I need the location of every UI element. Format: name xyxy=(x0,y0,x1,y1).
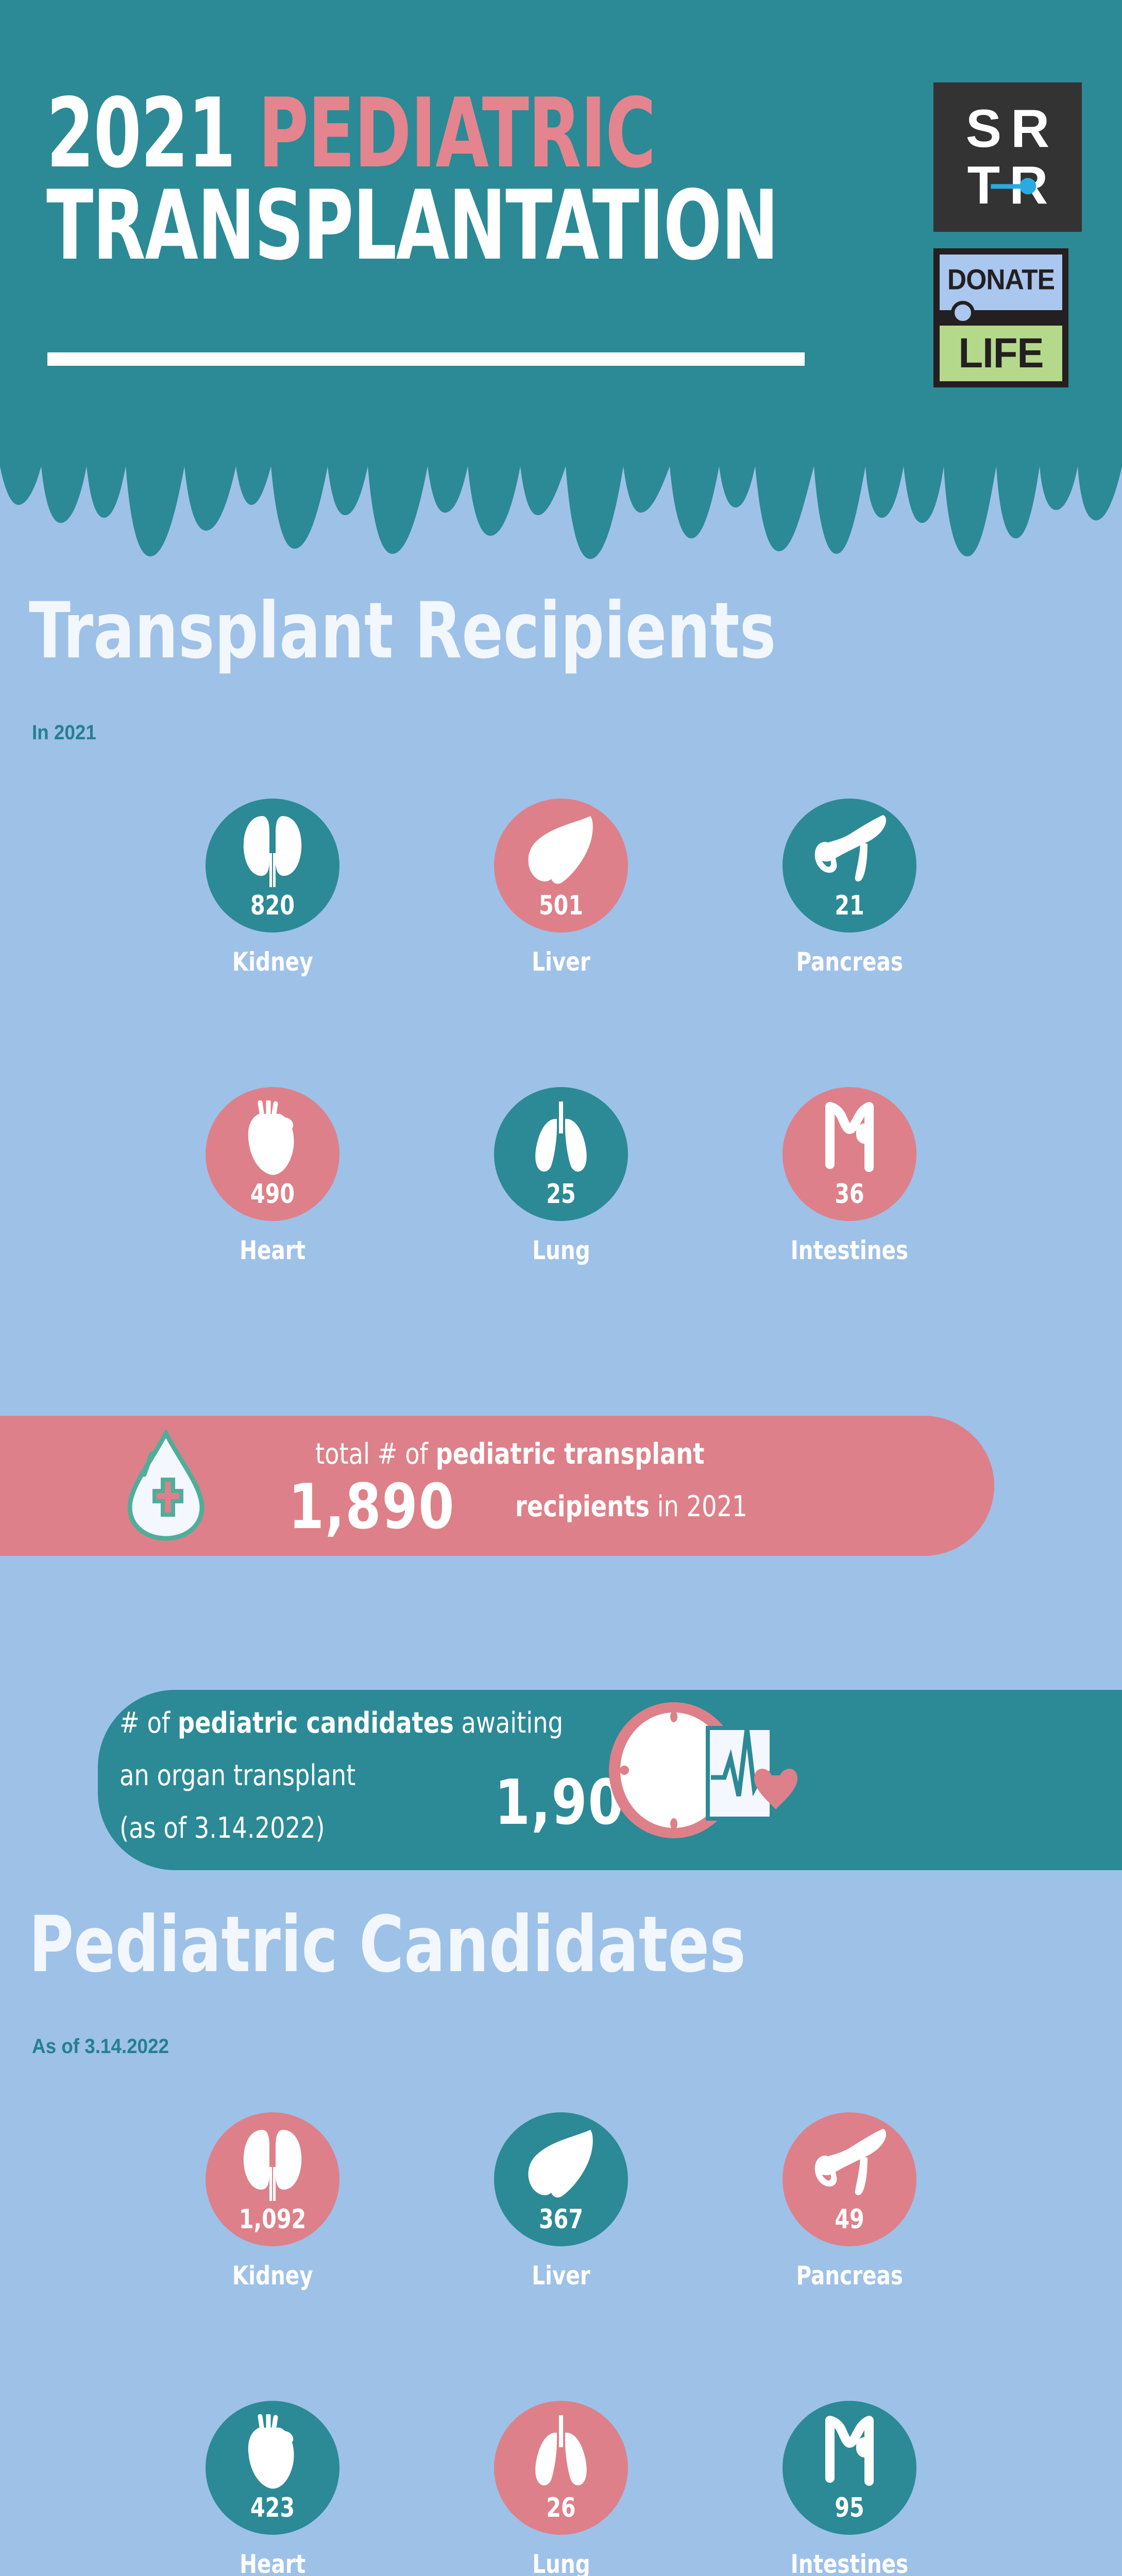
lung-icon xyxy=(525,2414,597,2492)
pancreas-icon xyxy=(811,812,888,884)
organ-circle: 95 xyxy=(783,2401,916,2535)
organ-label: Pancreas xyxy=(796,2261,903,2291)
organ-value: 423 xyxy=(250,2495,295,2521)
organ-label: Liver xyxy=(532,947,590,977)
srtr-logo-row-bottom: T R xyxy=(933,159,1082,212)
organ-value: 26 xyxy=(546,2495,575,2521)
organ-stat-intestines-candidates: 95 Intestines xyxy=(757,2401,942,2576)
organ-circle: 36 xyxy=(783,1087,916,1221)
total-recipients-value: 1,890 xyxy=(288,1477,455,1538)
donate-life-bottom-text: LIFE xyxy=(959,329,1044,378)
header-banner: 2021 PEDIATRIC TRANSPLANTATION S R T R xyxy=(0,0,1122,464)
candidates-section-subheading: As of 3.14.2022 xyxy=(32,2035,169,2058)
liver-icon xyxy=(522,2126,600,2203)
organ-circle: 423 xyxy=(206,2401,339,2535)
organ-label: Kidney xyxy=(232,2261,313,2291)
recipients-organ-row-2: 490 Heart 25 Lung 36 Intestin xyxy=(0,1087,1122,1265)
organ-circle: 820 xyxy=(206,799,339,933)
organ-value: 501 xyxy=(539,892,583,919)
header-title-block: 2021 PEDIATRIC TRANSPLANTATION xyxy=(46,88,871,272)
organ-stat-kidney-candidates: 1,092 Kidney xyxy=(180,2112,365,2291)
donate-life-swirl-icon xyxy=(951,301,975,325)
organ-stat-heart-candidates: 423 Heart xyxy=(180,2401,365,2576)
organ-stat-pancreas-recipients: 21 Pancreas xyxy=(757,799,942,977)
clock-ekg-heart-icon xyxy=(602,1698,808,1842)
awaiting-banner-line-2: an organ transplant xyxy=(120,1755,355,1797)
awaiting-line1-post: awaiting xyxy=(454,1706,563,1740)
lung-icon xyxy=(525,1100,597,1178)
donate-life-band xyxy=(940,310,1062,326)
awaiting-candidates-banner: # of pediatric candidates awaiting an or… xyxy=(98,1690,1122,1870)
organ-value: 1,092 xyxy=(239,2206,306,2233)
total-banner-line1-pre: total # of xyxy=(315,1437,436,1471)
organ-circle: 1,092 xyxy=(206,2112,339,2246)
organ-circle: 26 xyxy=(494,2401,628,2535)
blood-drop-cross-icon xyxy=(120,1429,212,1543)
liver-icon xyxy=(522,812,600,889)
donate-life-logo: DONATE LIFE ® xyxy=(933,248,1068,387)
intestines-icon xyxy=(813,1100,886,1178)
recipients-section-heading: Transplant Recipients xyxy=(29,592,776,670)
awaiting-line1-bold: pediatric candidates xyxy=(178,1706,454,1740)
heart-icon xyxy=(236,2414,309,2492)
organ-label: Liver xyxy=(532,2261,590,2291)
organ-value: 21 xyxy=(835,892,864,919)
organ-stat-lung-candidates: 26 Lung xyxy=(468,2401,654,2576)
organ-value: 49 xyxy=(835,2206,864,2233)
organ-circle: 25 xyxy=(494,1087,628,1221)
candidates-section-heading: Pediatric Candidates xyxy=(29,1906,746,1984)
total-banner-line1-bold: pediatric transplant xyxy=(436,1437,705,1471)
organ-label: Kidney xyxy=(232,947,313,977)
organ-label: Heart xyxy=(240,2549,305,2576)
organ-stat-kidney-recipients: 820 Kidney xyxy=(180,799,365,977)
organ-circle: 21 xyxy=(783,799,916,933)
pancreas-icon xyxy=(811,2126,888,2198)
organ-circle: 49 xyxy=(783,2112,916,2246)
awaiting-banner-line-1: # of pediatric candidates awaiting xyxy=(120,1702,563,1744)
organ-label: Heart xyxy=(240,1235,305,1265)
title-underline-rule xyxy=(47,352,805,366)
organ-stat-intestines-recipients: 36 Intestines xyxy=(757,1087,942,1265)
organ-stat-liver-recipients: 501 Liver xyxy=(468,799,654,977)
organ-value: 25 xyxy=(546,1181,575,1208)
srtr-letter-s: S xyxy=(961,102,1006,156)
organ-value: 95 xyxy=(835,2495,864,2521)
organ-value: 367 xyxy=(539,2206,583,2233)
pin-accent-icon xyxy=(991,177,1040,195)
organ-label: Intestines xyxy=(791,2549,908,2576)
organ-circle: 501 xyxy=(494,799,628,933)
awaiting-line1-pre: # of xyxy=(120,1706,178,1740)
infographic-page: 2021 PEDIATRIC TRANSPLANTATION S R T R xyxy=(0,0,1122,2576)
recipients-organ-row-1: 820 Kidney 501 Liver 21 Pancr xyxy=(0,799,1122,977)
donate-life-top-text: DONATE xyxy=(947,262,1055,296)
organ-stat-heart-recipients: 490 Heart xyxy=(180,1087,365,1265)
organ-circle: 367 xyxy=(494,2112,628,2246)
kidney-icon xyxy=(236,2126,309,2203)
organ-value: 490 xyxy=(250,1181,295,1208)
title-line-1: 2021 PEDIATRIC xyxy=(46,88,706,180)
srtr-logo: S R T R xyxy=(933,82,1082,232)
total-recipients-banner: total # of pediatric transplant recipien… xyxy=(0,1416,994,1556)
intestines-icon xyxy=(813,2414,886,2492)
organ-circle: 490 xyxy=(206,1087,339,1221)
organ-value: 36 xyxy=(835,1181,864,1208)
awaiting-banner-line-3: (as of 3.14.2022) xyxy=(120,1807,325,1849)
organ-label: Pancreas xyxy=(796,947,903,977)
registered-mark: ® xyxy=(1074,245,1084,261)
total-banner-line-1: total # of pediatric transplant xyxy=(315,1433,704,1475)
total-banner-line-2: recipients in 2021 xyxy=(515,1486,747,1528)
organ-label: Intestines xyxy=(791,1235,908,1265)
total-banner-line2-post: in 2021 xyxy=(650,1490,747,1523)
srtr-logo-row-top: S R xyxy=(933,102,1082,156)
organ-stat-liver-candidates: 367 Liver xyxy=(468,2112,654,2291)
donate-life-bottom-panel: LIFE xyxy=(940,326,1062,381)
drip-edge-decoration xyxy=(0,428,1122,572)
organ-value: 820 xyxy=(250,892,295,919)
recipients-section-subheading: In 2021 xyxy=(32,721,96,744)
candidates-organ-row-2: 423 Heart 26 Lung 95 Intestin xyxy=(0,2401,1122,2576)
srtr-letter-r: R xyxy=(1006,102,1054,156)
organ-label: Lung xyxy=(532,2549,590,2576)
organ-stat-lung-recipients: 25 Lung xyxy=(468,1087,654,1265)
heart-icon xyxy=(236,1100,309,1178)
organ-label: Lung xyxy=(532,1235,590,1265)
kidney-icon xyxy=(236,812,309,889)
organ-stat-pancreas-candidates: 49 Pancreas xyxy=(757,2112,942,2291)
candidates-organ-row-1: 1,092 Kidney 367 Liver 49 Pan xyxy=(0,2112,1122,2291)
total-banner-line2-bold: recipients xyxy=(515,1490,650,1523)
title-line-2: TRANSPLANTATION xyxy=(46,180,706,272)
